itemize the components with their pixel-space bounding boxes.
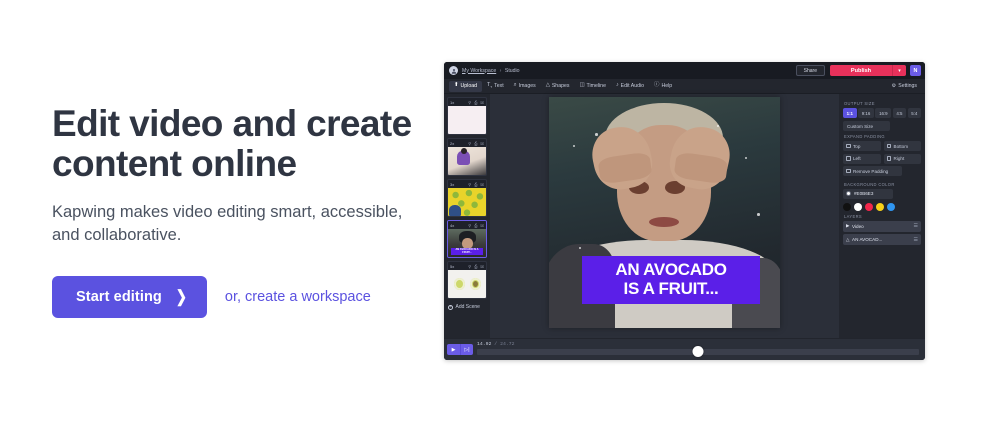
playback-controls: ▶ ▷|: [447, 344, 473, 355]
publish-button-group: Publish ▾: [830, 65, 906, 76]
shapes-icon: △: [546, 83, 550, 88]
scene-head: 4x ⚲ ⎙ ☒: [448, 221, 486, 229]
crop-icon[interactable]: ⚲: [468, 100, 471, 105]
sparkle-icon: [757, 213, 760, 216]
tool-edit-audio-label: Edit Audio: [621, 83, 644, 89]
swatch-white[interactable]: [854, 203, 862, 211]
scene-image: [448, 188, 486, 216]
canvas-area[interactable]: AN AVOCADO IS A FRUIT...: [490, 94, 839, 338]
audio-note-icon: ♪: [616, 83, 619, 88]
scene-head: 5x ⚲ ⎙ ☒: [448, 262, 486, 270]
sparkle-icon: [595, 133, 598, 136]
color-swatch-icon: [846, 191, 851, 196]
hero-subtitle: Kapwing makes video editing smart, acces…: [52, 201, 432, 248]
properties-panel: OUTPUT SIZE 1:1 9:16 16:9 4:5 5:4 Custom…: [839, 94, 925, 338]
create-workspace-link[interactable]: or, create a workspace: [225, 289, 371, 305]
checkbox-icon: [846, 144, 851, 149]
ratio-16-9[interactable]: 16:9: [875, 108, 891, 118]
scene-head: 1x ⚲ ⎙ ☒: [448, 98, 486, 106]
sparkle-icon: [573, 145, 575, 147]
tool-upload[interactable]: ⬆ Upload: [449, 81, 482, 92]
padding-top-checkbox[interactable]: Top: [843, 141, 881, 151]
swatch-black[interactable]: [843, 203, 851, 211]
duplicate-icon[interactable]: ⎙: [474, 100, 477, 105]
breadcrumb-workspace[interactable]: My Workspace: [462, 68, 496, 74]
user-avatar-icon[interactable]: [449, 66, 458, 75]
scene-number: 3x: [450, 182, 454, 187]
delete-icon[interactable]: ☒: [480, 264, 484, 269]
crop-icon[interactable]: ⚲: [468, 264, 471, 269]
scene-head: 3x ⚲ ⎙ ☒: [448, 180, 486, 188]
checkbox-icon: [887, 144, 892, 149]
hero-section: Edit video and create content online Kap…: [52, 104, 432, 318]
duplicate-icon[interactable]: ⎙: [474, 141, 477, 146]
caption-line-1: AN AVOCADO: [588, 260, 754, 279]
breadcrumb: My Workspace › Studio: [462, 68, 520, 74]
app-titlebar: My Workspace › Studio Share Publish ▾ N: [444, 62, 925, 79]
play-triangle-icon: ▶: [846, 223, 850, 229]
sparkle-icon: [745, 157, 747, 159]
publish-button[interactable]: Publish: [830, 65, 892, 76]
play-button[interactable]: ▶: [447, 344, 460, 355]
settings-label: Settings: [898, 83, 917, 89]
app-toolbar: ⬆ Upload TT Text ⌕ Images △ Shapes ◫ Tim…: [444, 79, 925, 94]
padding-bottom-label: Bottom: [894, 144, 909, 149]
add-scene-label: Add Scene: [456, 304, 480, 310]
tool-help-label: Help: [661, 83, 672, 89]
tool-text[interactable]: TT Text: [482, 81, 509, 92]
remove-padding-label: Remove Padding: [853, 169, 888, 174]
playhead-handle[interactable]: [693, 346, 704, 357]
scene-number: 1x: [450, 100, 454, 105]
share-button[interactable]: Share: [796, 65, 825, 76]
step-forward-button[interactable]: ▷|: [460, 344, 473, 355]
padding-top-label: Top: [853, 144, 860, 149]
duplicate-icon[interactable]: ⎙: [474, 182, 477, 187]
timecode-display: 14.92 / 24.72: [477, 342, 514, 347]
scene-image: [448, 106, 486, 134]
tool-timeline[interactable]: ◫ Timeline: [574, 81, 611, 92]
color-swatch-row: [843, 203, 921, 211]
transport-bar: ▶ ▷| 14.92 / 24.72: [444, 338, 925, 360]
landing-page: Edit video and create content online Kap…: [0, 0, 1000, 421]
scene-image: [448, 270, 486, 298]
output-size-label: OUTPUT SIZE: [844, 101, 921, 106]
padding-left-label: Left: [853, 156, 861, 161]
scene-thumbnail-4[interactable]: 4x ⚲ ⎙ ☒ AN AVOCADO IS A FRUIT...: [447, 220, 487, 258]
layer-video-label: Video: [852, 224, 864, 229]
add-scene-button[interactable]: + Add Scene: [447, 304, 490, 310]
app-body: 1x ⚲ ⎙ ☒ 2x ⚲ ⎙ ☒: [444, 94, 925, 338]
padding-row-2: Left Right: [843, 154, 921, 164]
caption-text-layer[interactable]: AN AVOCADO IS A FRUIT...: [582, 256, 760, 304]
tool-edit-audio[interactable]: ♪ Edit Audio: [611, 81, 649, 92]
crop-icon[interactable]: ⚲: [468, 223, 471, 228]
scene-thumbnail-2[interactable]: 2x ⚲ ⎙ ☒: [447, 138, 487, 176]
drag-handle-icon[interactable]: ☰: [914, 237, 918, 243]
hero-cta-row: Start editing ❯ or, create a workspace: [52, 276, 432, 318]
ratio-9-16[interactable]: 9:16: [858, 108, 874, 118]
text-layer-icon: △: [846, 237, 850, 243]
tool-help[interactable]: ⓘ Help: [649, 81, 677, 92]
background-color-value: #E0B6E3: [854, 191, 873, 196]
tool-text-label: Text: [494, 83, 504, 89]
breadcrumb-separator: ›: [500, 68, 502, 74]
checkbox-icon: [846, 156, 851, 161]
padding-row-1: Top Bottom: [843, 141, 921, 151]
delete-icon[interactable]: ☒: [480, 182, 484, 187]
time-separator: /: [494, 342, 497, 347]
start-editing-button[interactable]: Start editing ❯: [52, 276, 207, 318]
scene-rail: 1x ⚲ ⎙ ☒ 2x ⚲ ⎙ ☒: [444, 94, 490, 338]
upload-icon: ⬆: [454, 83, 459, 88]
sparkle-icon: [717, 125, 719, 127]
background-color-label: BACKGROUND COLOR: [844, 182, 921, 187]
delete-icon[interactable]: ☒: [480, 141, 484, 146]
tool-images-label: Images: [519, 83, 536, 89]
scene-thumbnail-3[interactable]: 3x ⚲ ⎙ ☒: [447, 179, 487, 217]
chevron-right-icon: ❯: [176, 287, 187, 307]
page-title: Edit video and create content online: [52, 104, 432, 184]
checkbox-icon: [846, 169, 851, 174]
scene-image: [448, 147, 486, 175]
remove-padding-checkbox[interactable]: Remove Padding: [843, 166, 902, 176]
ratio-1-1[interactable]: 1:1: [843, 108, 857, 118]
caption-line-2: IS A FRUIT...: [588, 279, 754, 298]
scene-thumbnail-1[interactable]: 1x ⚲ ⎙ ☒: [447, 97, 487, 135]
duplicate-icon[interactable]: ⎙: [474, 264, 477, 269]
figure-mouth: [649, 217, 679, 227]
scene-number: 5x: [450, 264, 454, 269]
layer-item-text[interactable]: △ AN AVOCAD... ☰: [843, 234, 921, 245]
scene-number: 4x: [450, 223, 454, 228]
tool-shapes-label: Shapes: [552, 83, 570, 89]
padding-right-label: Right: [894, 156, 905, 161]
custom-size-button[interactable]: Custom Size: [843, 121, 890, 131]
text-icon: TT: [487, 83, 492, 89]
search-images-icon: ⌕: [514, 83, 517, 88]
padding-bottom-checkbox[interactable]: Bottom: [884, 141, 922, 151]
timeline-icon: ◫: [579, 83, 584, 88]
sparkle-icon: [579, 247, 581, 249]
layers-label: LAYERS: [844, 214, 921, 219]
crop-icon[interactable]: ⚲: [468, 182, 471, 187]
ratio-4-5[interactable]: 4:5: [893, 108, 906, 118]
timeline-track[interactable]: [477, 349, 919, 355]
user-initial-badge[interactable]: N: [910, 65, 921, 76]
delete-icon[interactable]: ☒: [480, 100, 484, 105]
total-time: 24.72: [500, 342, 514, 347]
current-time: 14.92: [477, 342, 491, 347]
studio-app-window: My Workspace › Studio Share Publish ▾ N …: [444, 62, 925, 360]
scene-caption: AN AVOCADO IS A FRUIT...: [451, 248, 483, 255]
gear-icon: ⚙: [892, 83, 897, 89]
breadcrumb-page: Studio: [505, 68, 520, 74]
duplicate-icon[interactable]: ⎙: [474, 223, 477, 228]
swatch-yellow[interactable]: [876, 203, 884, 211]
settings-button[interactable]: ⚙ Settings: [892, 83, 920, 89]
scene-number: 2x: [450, 141, 454, 146]
aspect-ratio-group: 1:1 9:16 16:9 4:5 5:4: [843, 108, 921, 118]
layer-text-label: AN AVOCAD...: [852, 237, 882, 242]
tool-shapes[interactable]: △ Shapes: [541, 81, 575, 92]
tool-timeline-label: Timeline: [587, 83, 606, 89]
scene-thumbnail-5[interactable]: 5x ⚲ ⎙ ☒: [447, 261, 487, 299]
swatch-blue[interactable]: [887, 203, 895, 211]
drag-handle-icon[interactable]: ☰: [914, 223, 918, 229]
video-canvas[interactable]: AN AVOCADO IS A FRUIT...: [549, 97, 780, 328]
background-color-field[interactable]: #E0B6E3: [843, 189, 893, 199]
padding-right-checkbox[interactable]: Right: [884, 154, 922, 164]
expand-padding-label: EXPAND PADDING: [844, 134, 921, 139]
scene-head: 2x ⚲ ⎙ ☒: [448, 139, 486, 147]
delete-icon[interactable]: ☒: [480, 223, 484, 228]
help-circle-icon: ⓘ: [654, 83, 659, 88]
chevron-down-icon[interactable]: ▾: [892, 65, 906, 76]
ratio-5-4[interactable]: 5:4: [908, 108, 921, 118]
checkbox-icon: [887, 156, 892, 161]
padding-row-3: Remove Padding: [843, 166, 921, 176]
tool-images[interactable]: ⌕ Images: [509, 81, 541, 92]
padding-left-checkbox[interactable]: Left: [843, 154, 881, 164]
swatch-red[interactable]: [865, 203, 873, 211]
scene-image: AN AVOCADO IS A FRUIT...: [448, 229, 486, 257]
tool-upload-label: Upload: [461, 83, 477, 89]
start-editing-label: Start editing: [76, 289, 162, 305]
avocado-pit-shape: [473, 281, 478, 287]
plus-circle-icon: +: [448, 305, 453, 310]
layer-item-video[interactable]: ▶ Video ☰: [843, 221, 921, 232]
crop-icon[interactable]: ⚲: [468, 141, 471, 146]
